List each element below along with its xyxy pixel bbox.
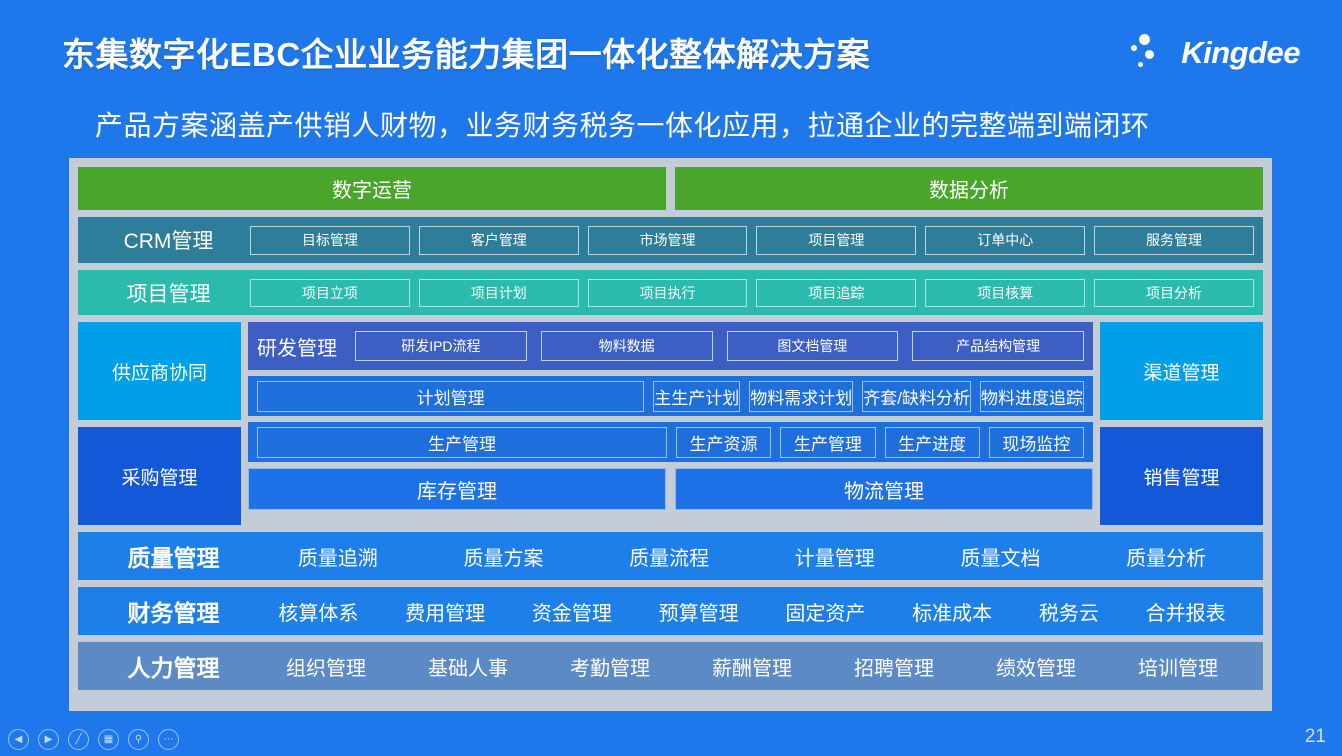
finance-band-label: 财务管理 (92, 594, 255, 628)
production-band: 生产管理 生产资源 生产管理 生产进度 现场监控 (248, 422, 1093, 462)
more-icon[interactable]: ⋯ (158, 729, 179, 750)
hr-item-recruitment[interactable]: 招聘管理 (854, 652, 934, 681)
kingdee-dots-icon (1131, 31, 1173, 75)
green-header-row: 数字运营 数据分析 (78, 167, 1263, 210)
slide-header: 东集数字化EBC企业业务能力集团一体化整体解决方案 产品方案涵盖产供销人财物，业… (0, 0, 1342, 150)
center-column: 研发管理 研发IPD流程 物料数据 图文档管理 产品结构管理 计划管理 主生产计… (248, 322, 1093, 525)
crm-chip-goal[interactable]: 目标管理 (250, 226, 410, 255)
rd-chip-ipd-process[interactable]: 研发IPD流程 (355, 331, 527, 361)
page-title: 东集数字化EBC企业业务能力集团一体化整体解决方案 (62, 28, 870, 76)
finance-item-expense[interactable]: 费用管理 (405, 597, 485, 626)
side-cell-sales[interactable]: 销售管理 (1100, 427, 1263, 525)
rd-band: 研发管理 研发IPD流程 物料数据 图文档管理 产品结构管理 (248, 322, 1093, 370)
hr-item-training[interactable]: 培训管理 (1138, 652, 1218, 681)
crm-chip-project[interactable]: 项目管理 (756, 226, 916, 255)
side-cell-procurement[interactable]: 采购管理 (78, 427, 241, 525)
finance-item-group: 核算体系 费用管理 资金管理 预算管理 固定资产 标准成本 税务云 合并报表 (255, 597, 1249, 626)
project-chip-plan[interactable]: 项目计划 (419, 279, 579, 307)
plan-chip-group: 主生产计划 物料需求计划 齐套/缺料分析 物料进度追踪 (653, 381, 1084, 412)
plan-chip-material-progress[interactable]: 物料进度追踪 (980, 381, 1084, 412)
crm-band: CRM管理 目标管理 客户管理 市场管理 项目管理 订单中心 服务管理 (78, 217, 1263, 263)
crm-band-label: CRM管理 (87, 225, 250, 255)
next-icon[interactable]: ▶ (38, 729, 59, 750)
plan-chip-mrp[interactable]: 物料需求计划 (749, 381, 853, 412)
crm-chip-market[interactable]: 市场管理 (588, 226, 748, 255)
hr-band: 人力管理 组织管理 基础人事 考勤管理 薪酬管理 招聘管理 绩效管理 培训管理 (78, 642, 1263, 690)
quality-item-traceability[interactable]: 质量追溯 (298, 542, 378, 571)
left-side-column: 供应商协同 采购管理 (78, 322, 241, 525)
project-chip-group: 项目立项 项目计划 项目执行 项目追踪 项目核算 项目分析 (250, 279, 1254, 307)
hr-item-performance[interactable]: 绩效管理 (996, 652, 1076, 681)
quality-item-process[interactable]: 质量流程 (629, 542, 709, 571)
finance-item-funds[interactable]: 资金管理 (532, 597, 612, 626)
wide-cell-inventory[interactable]: 库存管理 (248, 468, 666, 510)
crm-chip-customer[interactable]: 客户管理 (419, 226, 579, 255)
finance-item-tax-cloud[interactable]: 税务云 (1039, 597, 1099, 626)
project-chip-tracking[interactable]: 项目追踪 (756, 279, 916, 307)
side-cell-supplier-collab[interactable]: 供应商协同 (78, 322, 241, 420)
project-chip-initiation[interactable]: 项目立项 (250, 279, 410, 307)
quality-band-label: 质量管理 (92, 539, 255, 573)
quality-item-metrology[interactable]: 计量管理 (795, 542, 875, 571)
project-chip-accounting[interactable]: 项目核算 (925, 279, 1085, 307)
crm-chip-order[interactable]: 订单中心 (925, 226, 1085, 255)
production-band-label[interactable]: 生产管理 (257, 427, 667, 458)
project-chip-analysis[interactable]: 项目分析 (1094, 279, 1254, 307)
plan-chip-shortage-analysis[interactable]: 齐套/缺料分析 (862, 381, 971, 412)
quality-item-analysis[interactable]: 质量分析 (1126, 542, 1206, 571)
wide-cell-logistics[interactable]: 物流管理 (675, 468, 1093, 510)
side-cell-channel[interactable]: 渠道管理 (1100, 322, 1263, 420)
prev-icon[interactable]: ◀ (8, 729, 29, 750)
finance-item-standard-cost[interactable]: 标准成本 (912, 597, 992, 626)
quality-item-group: 质量追溯 质量方案 质量流程 计量管理 质量文档 质量分析 (255, 542, 1249, 571)
rd-chip-material-data[interactable]: 物料数据 (541, 331, 713, 361)
right-side-column: 渠道管理 销售管理 (1100, 322, 1263, 525)
project-band-label: 项目管理 (87, 278, 250, 308)
rd-chip-document-mgmt[interactable]: 图文档管理 (727, 331, 899, 361)
hr-item-basic-personnel[interactable]: 基础人事 (428, 652, 508, 681)
layout-icon[interactable]: ▦ (98, 729, 119, 750)
hr-item-organization[interactable]: 组织管理 (286, 652, 366, 681)
plan-chip-mps[interactable]: 主生产计划 (653, 381, 740, 412)
kingdee-wordmark: Kingdee (1181, 35, 1300, 71)
kingdee-logo: Kingdee (1131, 27, 1300, 79)
hr-item-compensation[interactable]: 薪酬管理 (712, 652, 792, 681)
finance-band: 财务管理 核算体系 费用管理 资金管理 预算管理 固定资产 标准成本 税务云 合… (78, 587, 1263, 635)
production-chip-resources[interactable]: 生产资源 (676, 427, 771, 458)
rd-chip-product-structure[interactable]: 产品结构管理 (912, 331, 1084, 361)
finance-item-budget[interactable]: 预算管理 (659, 597, 739, 626)
plan-band-label[interactable]: 计划管理 (257, 381, 644, 412)
finance-item-fixed-assets[interactable]: 固定资产 (785, 597, 865, 626)
pen-icon[interactable]: ╱ (68, 729, 89, 750)
page-number: 21 (1305, 726, 1326, 748)
production-chip-progress[interactable]: 生产进度 (885, 427, 980, 458)
hr-item-group: 组织管理 基础人事 考勤管理 薪酬管理 招聘管理 绩效管理 培训管理 (255, 652, 1249, 681)
finance-item-accounting-system[interactable]: 核算体系 (278, 597, 358, 626)
middle-section: 供应商协同 采购管理 研发管理 研发IPD流程 物料数据 图文档管理 产品结构管… (78, 322, 1263, 525)
quality-band: 质量管理 质量追溯 质量方案 质量流程 计量管理 质量文档 质量分析 (78, 532, 1263, 580)
logistics-row: 库存管理 物流管理 (248, 468, 1093, 510)
quality-item-plan[interactable]: 质量方案 (463, 542, 543, 571)
finance-item-consolidated-report[interactable]: 合并报表 (1146, 597, 1226, 626)
quality-item-document[interactable]: 质量文档 (960, 542, 1040, 571)
crm-chip-service[interactable]: 服务管理 (1094, 226, 1254, 255)
green-bar-digital-ops[interactable]: 数字运营 (78, 167, 666, 210)
project-band: 项目管理 项目立项 项目计划 项目执行 项目追踪 项目核算 项目分析 (78, 270, 1263, 315)
production-chip-management[interactable]: 生产管理 (780, 427, 875, 458)
page-subtitle: 产品方案涵盖产供销人财物，业务财务税务一体化应用，拉通企业的完整端到端闭环 (95, 104, 1150, 144)
architecture-diagram: 数字运营 数据分析 CRM管理 目标管理 客户管理 市场管理 项目管理 订单中心… (69, 158, 1272, 711)
plan-band: 计划管理 主生产计划 物料需求计划 齐套/缺料分析 物料进度追踪 (248, 376, 1093, 416)
project-chip-execution[interactable]: 项目执行 (588, 279, 748, 307)
production-chip-group: 生产资源 生产管理 生产进度 现场监控 (676, 427, 1084, 458)
hr-band-label: 人力管理 (92, 649, 255, 683)
presentation-toolbar: ◀ ▶ ╱ ▦ ⚲ ⋯ (8, 729, 179, 750)
production-chip-shopfloor-monitor[interactable]: 现场监控 (989, 427, 1084, 458)
crm-chip-group: 目标管理 客户管理 市场管理 项目管理 订单中心 服务管理 (250, 226, 1254, 255)
rd-chip-group: 研发IPD流程 物料数据 图文档管理 产品结构管理 (355, 331, 1084, 361)
green-bar-data-analytics[interactable]: 数据分析 (675, 167, 1263, 210)
hr-item-attendance[interactable]: 考勤管理 (570, 652, 650, 681)
search-icon[interactable]: ⚲ (128, 729, 149, 750)
rd-band-label: 研发管理 (257, 332, 355, 361)
